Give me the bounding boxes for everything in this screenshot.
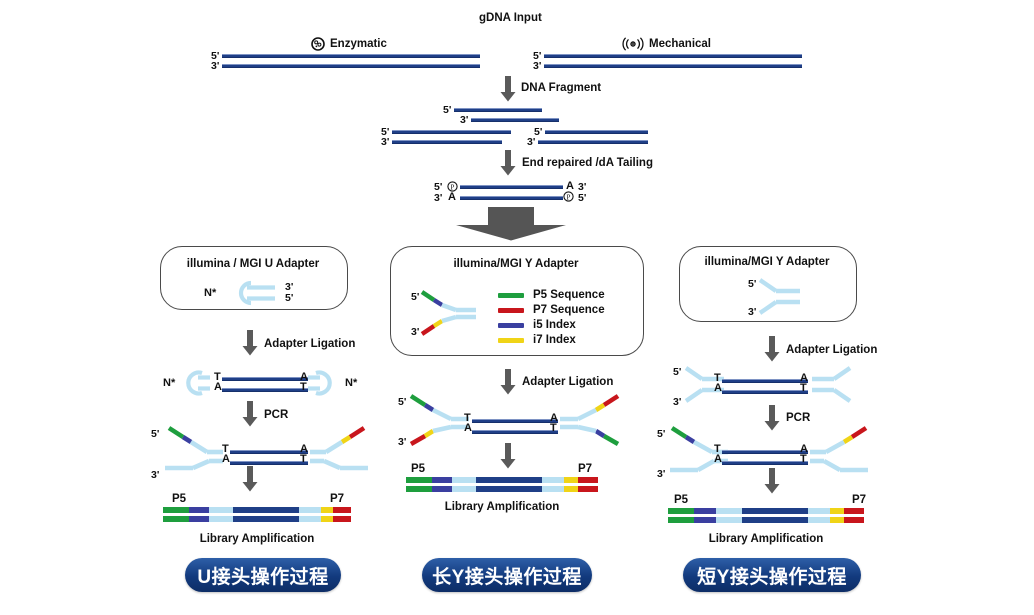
gdna-input-title: gDNA Input [479,12,542,24]
right-adapter-3prime: 3' [748,306,756,318]
right-pcr-y-right-icon [808,424,870,486]
right-pcr-label: PCR [786,412,810,424]
fragment3-strand-bottom [538,140,648,144]
center-ligated-3prime: 3' [398,436,406,448]
arrow-branch-split [455,207,567,241]
fragment2-strand-bottom [392,140,502,144]
left-ligated-n-right: N* [345,377,357,389]
legend-swatch-i5 [498,323,524,328]
u-adapter-n-label: N* [204,287,216,299]
left-ligated-hairpin-right-icon [308,366,342,400]
arrow-left-library [242,466,258,492]
arrow-end-repair [500,150,516,176]
banner-u-adapter[interactable]: U接头操作过程 [185,558,341,592]
diagram-canvas: gDNA Input Enzymatic Mechanical 5' 3' 5'… [0,0,1034,615]
repaired-A-left: A [448,191,456,203]
right-library-amplification-label: Library Amplification [668,533,864,545]
legend-item-p5: P5 Sequence [498,289,605,301]
fragment1-strand-bottom [471,118,559,122]
gdna-left-3prime: 3' [211,60,219,72]
left-pcr-y-right-icon [308,424,370,486]
arrow-left-adapter-ligation [242,330,258,356]
left-pcr-strand-top [230,450,308,454]
left-pcr-3prime: 3' [151,469,159,481]
enzyme-icon [311,37,325,51]
right-ligated-5prime: 5' [673,366,681,378]
left-adapter-ligation-label: Adapter Ligation [264,338,355,350]
legend-label-p7: P7 Sequence [533,304,605,316]
repaired-strand-bottom [460,196,563,200]
sonicator-icon [622,37,644,51]
left-library-product [163,507,351,527]
arrow-right-pcr [764,405,780,431]
center-ligated-strand-bottom [472,430,558,434]
left-ligated-n-left: N* [163,377,175,389]
right-y-adapter-icon [758,277,804,317]
legend-swatch-p5 [498,293,524,298]
left-pcr-strand-bottom [230,461,308,465]
right-ligated-y-right-icon [808,365,852,409]
right-ligated-3prime: 3' [673,396,681,408]
legend-item-p7: P7 Sequence [498,304,605,316]
left-p7-label: P7 [330,493,344,505]
gdna-right-strand-top [544,54,802,58]
center-ligated-A: A [464,422,472,434]
legend-swatch-i7 [498,338,524,343]
left-p5-label: P5 [172,493,186,505]
right-library-product [668,508,864,528]
left-pcr-A: A [222,453,230,465]
right-pcr-strand-top [722,450,808,454]
center-ligated-5prime: 5' [398,396,406,408]
arrow-dna-fragment [500,76,516,102]
right-p7-label: P7 [852,494,866,506]
right-adapter-ligation-label: Adapter Ligation [786,344,877,356]
gdna-right-strand-bottom [544,64,802,68]
center-adapter-5prime: 5' [411,291,419,303]
arrow-right-adapter-ligation [764,336,780,362]
center-library-amplification-label: Library Amplification [406,501,598,513]
fragment1-5prime: 5' [443,104,451,116]
fragment1-3prime: 3' [460,114,468,126]
center-adapter-ligation-label: Adapter Ligation [522,376,613,388]
left-ligated-strand-top [222,377,308,381]
legend-label-i5: i5 Index [533,319,576,331]
repaired-strand-top [460,185,563,189]
right-pcr-3prime: 3' [657,468,665,480]
fragment3-3prime: 3' [527,136,535,148]
u-adapter-5prime: 5' [285,292,293,304]
arrow-center-adapter-ligation [500,369,516,395]
fragment1-strand-top [454,108,542,112]
repaired-3prime-left: 3' [434,192,442,204]
u-adapter-hairpin-icon [221,276,283,310]
y-adapter-box-right-title: illumina/MGI Y Adapter [679,256,855,268]
banner-short-y-adapter[interactable]: 短Y接头操作过程 [683,558,861,592]
right-ligated-T-right: T [800,382,807,394]
center-y-adapter-icon [420,288,482,338]
arrow-right-library [764,468,780,494]
repaired-5prime-right: 5' [578,192,586,204]
arrow-left-pcr [242,401,258,427]
y-adapter-box-center-title: illumina/MGI Y Adapter [390,258,642,270]
right-pcr-T-right: T [800,453,807,465]
legend-item-i5: i5 Index [498,319,576,331]
right-ligated-strand-bottom [722,390,808,394]
center-ligated-y-right-icon [558,393,620,453]
right-p5-label: P5 [674,494,688,506]
u-adapter-box-title: illumina / MGI U Adapter [160,258,346,270]
left-pcr-5prime: 5' [151,428,159,440]
right-adapter-5prime: 5' [748,278,756,290]
banner-long-y-adapter[interactable]: 长Y接头操作过程 [422,558,592,592]
left-pcr-T-right: T [300,453,307,465]
center-p5-label: P5 [411,463,425,475]
right-ligated-strand-top [722,379,808,383]
gdna-left-strand-top [222,54,480,58]
center-p7-label: P7 [578,463,592,475]
left-pcr-y-left-icon [163,424,225,486]
center-adapter-3prime: 3' [411,326,419,338]
legend-label-i7: i7 Index [533,334,576,346]
center-ligated-y-left-icon [409,393,471,453]
left-ligated-T-right: T [300,381,307,393]
gdna-left-strand-bottom [222,64,480,68]
left-ligated-A: A [214,381,222,393]
fragment2-3prime: 3' [381,136,389,148]
phosphate-icon-bottom: P [563,191,574,202]
enzymatic-label: Enzymatic [330,38,387,50]
legend-swatch-p7 [498,308,524,313]
left-library-amplification-label: Library Amplification [163,533,351,545]
fragment3-strand-top [545,130,648,134]
center-ligated-strand-top [472,419,558,423]
mechanical-label: Mechanical [649,38,711,50]
end-repair-label: End repaired /dA Tailing [522,157,653,169]
left-pcr-label: PCR [264,409,288,421]
legend-label-p5: P5 Sequence [533,289,605,301]
right-pcr-A: A [714,453,722,465]
left-ligated-hairpin-left-icon [176,366,210,400]
dna-fragment-label: DNA Fragment [521,82,601,94]
gdna-right-3prime: 3' [533,60,541,72]
right-pcr-5prime: 5' [657,428,665,440]
fragment2-strand-top [392,130,511,134]
center-ligated-T-right: T [550,422,557,434]
right-pcr-strand-bottom [722,461,808,465]
arrow-center-library [500,443,516,469]
left-ligated-strand-bottom [222,388,308,392]
center-library-product [406,477,598,497]
svg-text:P: P [567,193,571,201]
legend-item-i7: i7 Index [498,334,576,346]
right-ligated-A: A [714,382,722,394]
